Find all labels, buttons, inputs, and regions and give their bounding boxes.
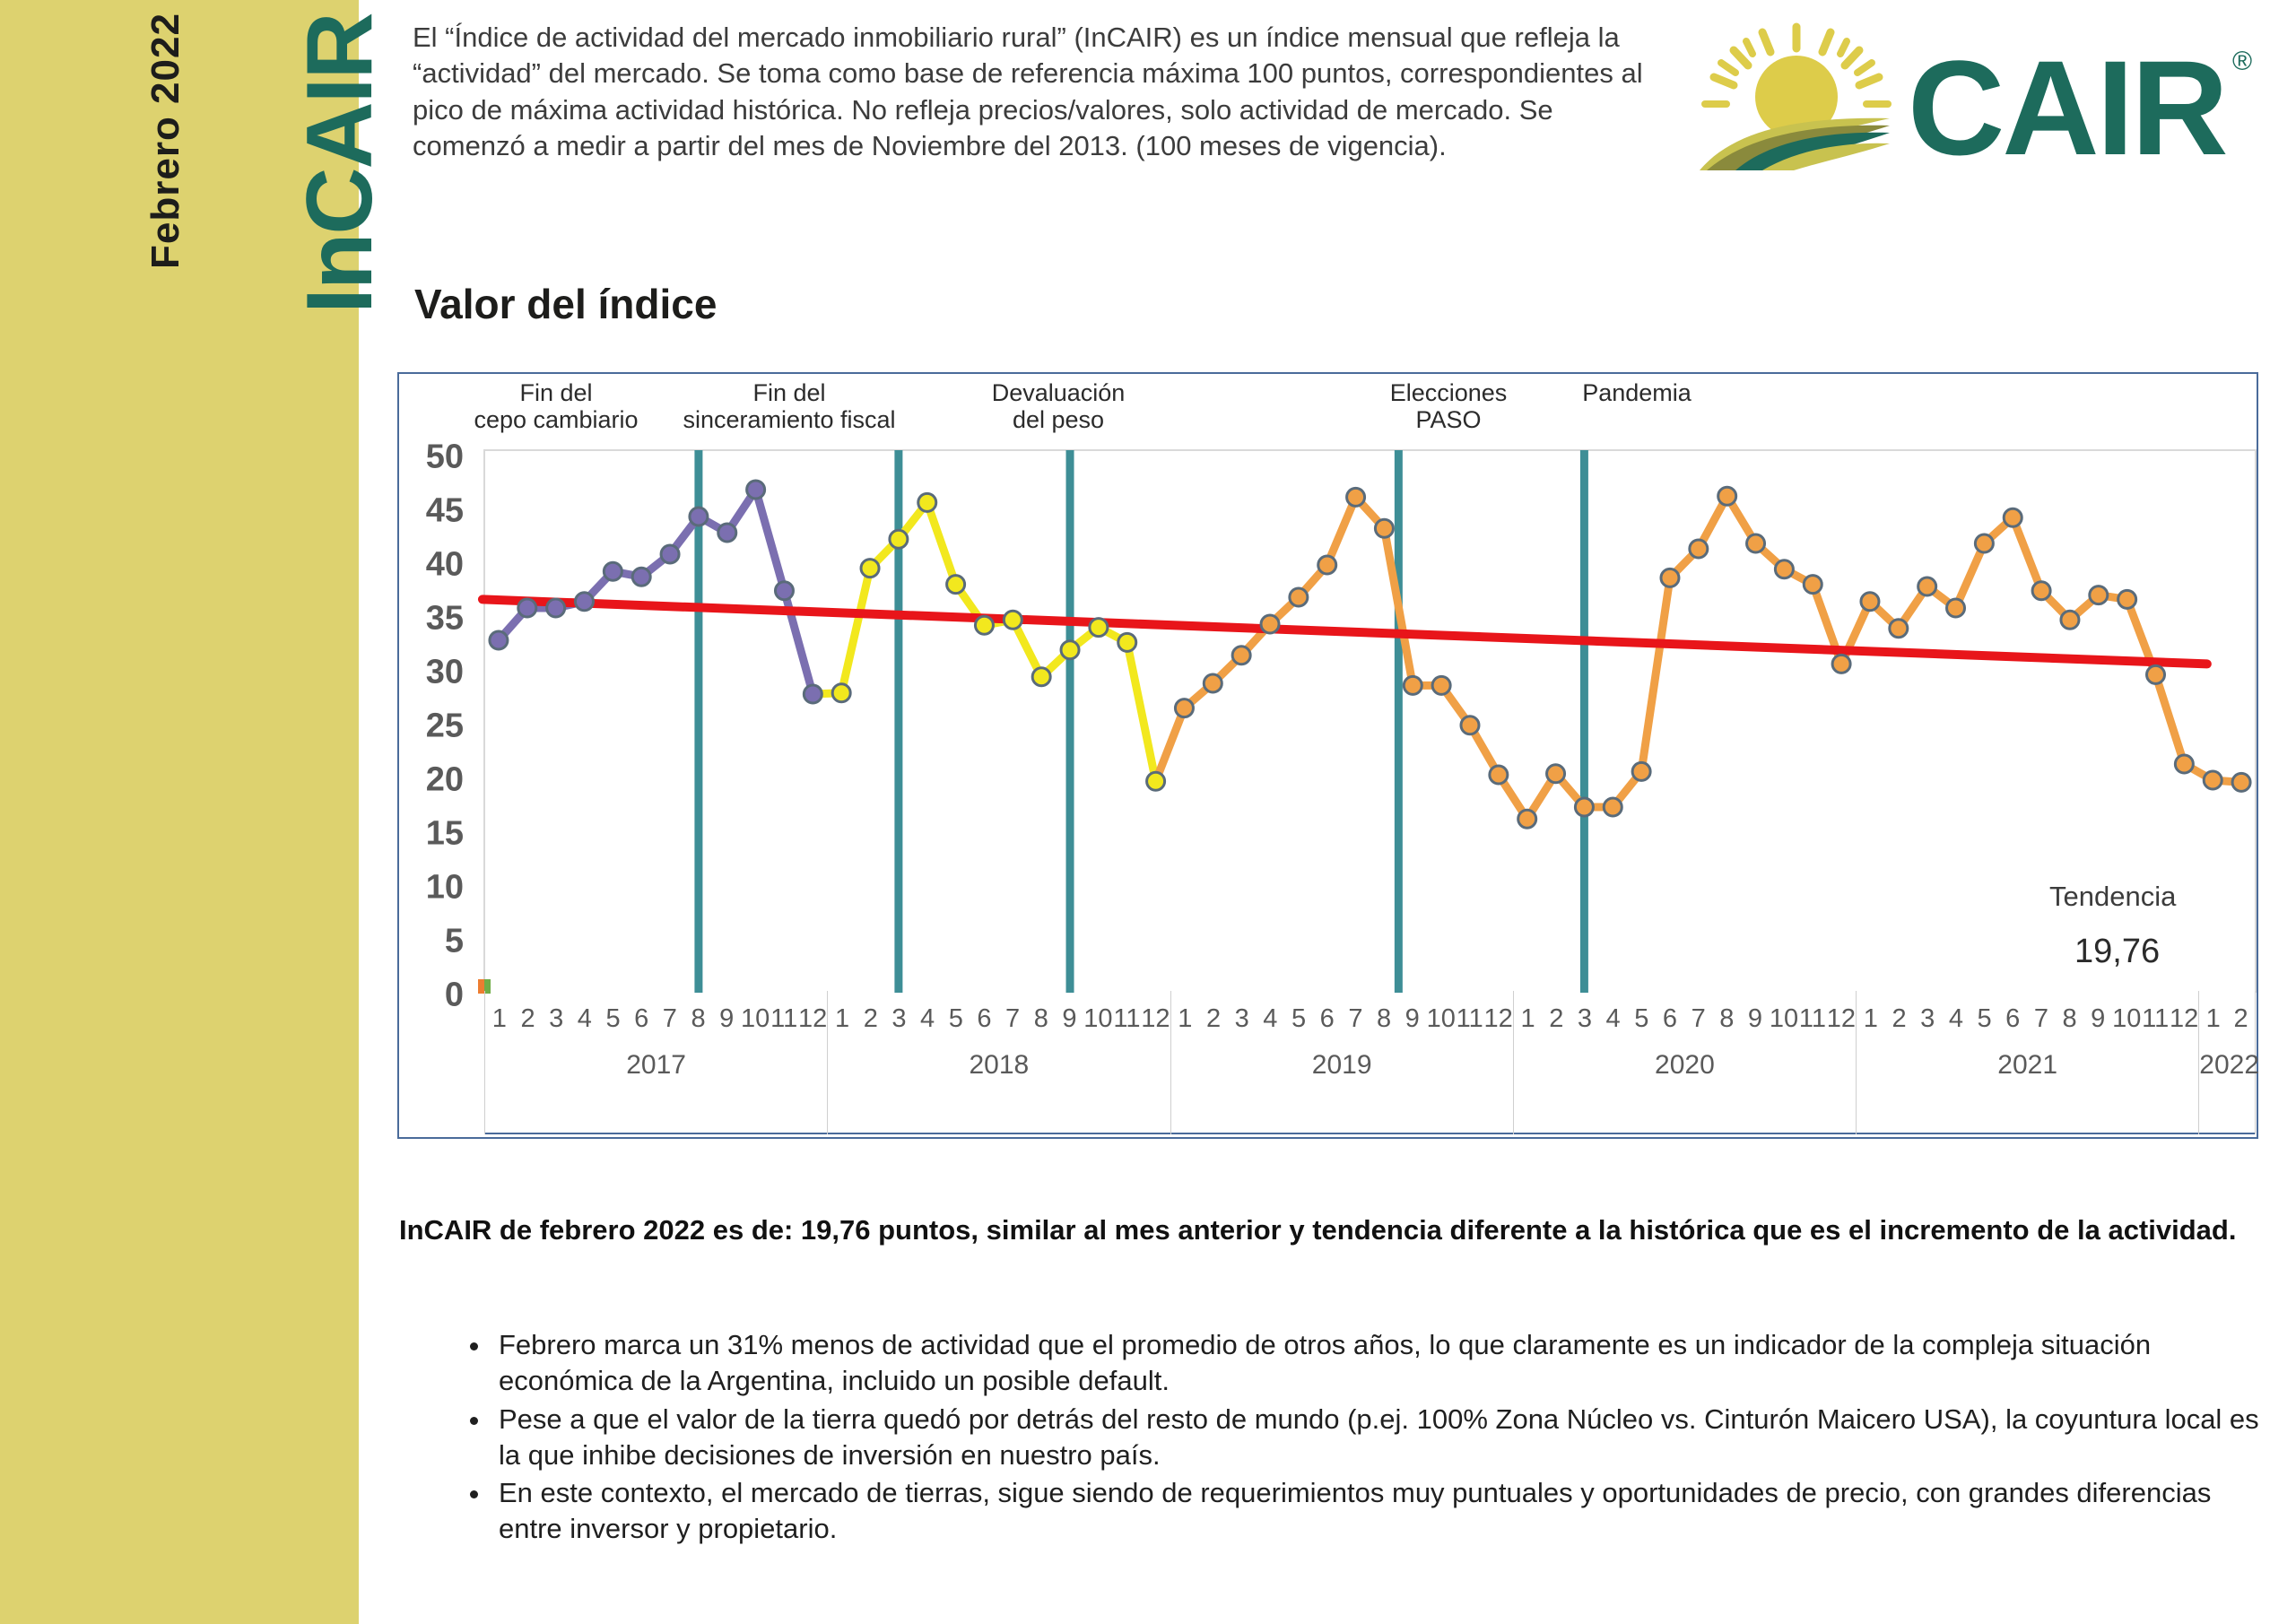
data-point	[604, 562, 622, 580]
x-axis-month-row: 123456789101112	[485, 991, 827, 1046]
x-axis-month-tick: 4	[913, 991, 942, 1046]
data-point	[1947, 599, 1965, 617]
data-point	[690, 508, 708, 525]
x-axis-month-tick: 12	[2170, 991, 2198, 1046]
x-axis-year-label: 2021	[1857, 1050, 2198, 1081]
x-axis-month-tick: 10	[1427, 991, 1456, 1046]
x-axis-month-tick: 2	[1885, 991, 1914, 1046]
x-axis-month-tick: 3	[885, 991, 914, 1046]
x-axis-month-tick: 11	[1113, 991, 1142, 1046]
x-axis-year-group: 1234567891011122019	[1170, 991, 1513, 1134]
data-point	[1261, 615, 1279, 633]
x-axis-month-row: 12	[2199, 991, 2255, 1046]
x-axis-year-group: 122022	[2198, 991, 2256, 1134]
x-axis-month-tick: 6	[970, 991, 999, 1046]
data-point	[1347, 488, 1365, 506]
x-axis-month-tick: 3	[1570, 991, 1599, 1046]
series-line	[841, 502, 1155, 781]
data-point	[1032, 668, 1050, 686]
data-point	[1575, 798, 1593, 816]
x-axis-month-tick: 5	[942, 991, 970, 1046]
x-axis-month-tick: 4	[1257, 991, 1285, 1046]
x-axis-month-tick: 5	[1284, 991, 1313, 1046]
data-point	[718, 524, 736, 542]
data-point	[1975, 534, 1993, 552]
data-point	[1547, 765, 1565, 783]
x-axis-month-tick: 8	[684, 991, 713, 1046]
data-point	[2004, 508, 2022, 526]
x-axis-month-tick: 11	[2141, 991, 2170, 1046]
data-point	[1890, 620, 1908, 638]
x-axis-month-tick: 3	[542, 991, 570, 1046]
x-axis-month-tick: 1	[485, 991, 514, 1046]
x-axis-year-group: 1234567891011122021	[1856, 991, 2198, 1134]
sidebar: Febrero 2022 InCAIR	[0, 0, 359, 1624]
bullet-list: Febrero marca un 31% menos de actividad …	[448, 1327, 2278, 1550]
data-point	[1518, 810, 1536, 828]
field-icon	[1700, 118, 1890, 170]
x-axis-month-tick: 7	[2027, 991, 2056, 1046]
data-point	[1690, 540, 1708, 558]
x-axis-month-tick: 4	[570, 991, 599, 1046]
x-axis-month-row: 123456789101112	[1857, 991, 2198, 1046]
data-point	[1404, 676, 1422, 694]
x-axis-year-label: 2019	[1171, 1050, 1513, 1081]
x-axis-year-group: 1234567891011122020	[1513, 991, 1856, 1134]
x-axis-month-tick: 10	[1083, 991, 1112, 1046]
x-axis-month-tick: 6	[1313, 991, 1342, 1046]
data-point	[1804, 576, 1822, 594]
chart-annotation-band: Fin del cepo cambiario Fin del sincerami…	[399, 374, 2257, 441]
x-axis-month-tick: 5	[599, 991, 628, 1046]
x-axis-month-tick: 5	[1627, 991, 1656, 1046]
x-axis-month-tick: 4	[1942, 991, 1970, 1046]
x-axis-month-tick: 6	[627, 991, 656, 1046]
cair-logo-svg: CAIR ®	[1700, 18, 2274, 170]
x-axis-year-label: 2022	[2199, 1050, 2255, 1081]
data-point	[947, 576, 965, 594]
data-point	[2118, 590, 2136, 608]
x-axis-month-tick: 2	[2227, 991, 2255, 1046]
x-axis-year-group: 1234567891011122017	[484, 991, 827, 1134]
x-axis-month-tick: 9	[1056, 991, 1084, 1046]
x-axis-month-tick: 4	[1599, 991, 1628, 1046]
data-point	[2061, 611, 2079, 629]
series-line	[499, 490, 813, 694]
x-axis-month-tick: 10	[741, 991, 770, 1046]
data-point	[1718, 487, 1736, 505]
x-axis-month-tick: 7	[1684, 991, 1713, 1046]
summary-paragraph: InCAIR de febrero 2022 es de: 19,76 punt…	[399, 1212, 2278, 1248]
data-point	[1490, 766, 1508, 784]
data-point	[1232, 647, 1250, 664]
x-axis-month-tick: 9	[1741, 991, 1770, 1046]
x-axis-month-tick: 3	[1228, 991, 1257, 1046]
x-axis-year-label: 2017	[485, 1050, 827, 1081]
x-axis-month-tick: 1	[828, 991, 857, 1046]
data-point	[1204, 674, 1222, 692]
chart-container: Fin del cepo cambiario Fin del sincerami…	[397, 372, 2258, 1139]
x-axis-month-tick: 3	[1913, 991, 1942, 1046]
data-point	[547, 599, 565, 617]
data-point	[1747, 534, 1765, 552]
x-axis-month-tick: 2	[514, 991, 543, 1046]
x-axis-month-tick: 8	[2056, 991, 2084, 1046]
data-point	[2232, 773, 2250, 791]
annotation-label-pandemia: Pandemia	[1520, 379, 1753, 406]
x-axis-month-tick: 1	[1171, 991, 1200, 1046]
series-connector	[1156, 708, 1185, 782]
x-axis-month-tick: 1	[2199, 991, 2227, 1046]
x-axis-month-tick: 1	[1514, 991, 1543, 1046]
data-point	[975, 616, 993, 634]
x-axis-month-tick: 9	[712, 991, 741, 1046]
chart-section-title: Valor del índice	[414, 280, 717, 328]
x-axis-month-row: 123456789101112	[1171, 991, 1513, 1046]
x-axis-month-tick: 12	[1827, 991, 1856, 1046]
cair-logo: CAIR ®	[1700, 18, 2274, 170]
x-axis-month-tick: 7	[656, 991, 684, 1046]
data-point	[1632, 762, 1650, 780]
cair-wordmark: CAIR	[1908, 32, 2226, 170]
x-axis-month-tick: 8	[1027, 991, 1056, 1046]
list-item: En este contexto, el mercado de tierras,…	[491, 1475, 2278, 1548]
chart-svg	[399, 441, 2257, 993]
x-axis-month-tick: 10	[2112, 991, 2141, 1046]
data-point	[1604, 798, 1622, 816]
x-axis-month-tick: 5	[1970, 991, 1999, 1046]
x-axis-month-tick: 10	[1770, 991, 1798, 1046]
data-point	[2147, 665, 2165, 683]
data-point	[661, 545, 679, 563]
x-axis-month-tick: 11	[1798, 991, 1827, 1046]
plot-frame	[484, 450, 2256, 993]
data-point	[1090, 619, 1108, 637]
x-axis-year-label: 2018	[828, 1050, 1170, 1081]
data-point	[2175, 755, 2193, 773]
data-point	[918, 493, 936, 511]
data-point	[1061, 641, 1079, 659]
x-axis-month-tick: 6	[1998, 991, 2027, 1046]
annotation-label-cepo: Fin del cepo cambiario	[426, 379, 686, 433]
x-axis-month-tick: 12	[1141, 991, 1170, 1046]
annotation-label-sinceramiento: Fin del sinceramiento fiscal	[655, 379, 924, 433]
data-point	[747, 481, 765, 499]
data-point	[1775, 560, 1793, 578]
data-point	[1461, 716, 1479, 734]
x-axis-month-tick: 9	[2083, 991, 2112, 1046]
data-point	[861, 560, 879, 578]
tendencia-callout-value: 19,76	[2074, 933, 2160, 971]
data-point	[804, 685, 822, 703]
data-point	[1375, 519, 1393, 537]
data-point	[1432, 676, 1450, 694]
data-point	[1290, 588, 1308, 606]
sidebar-inner: Febrero 2022 InCAIR	[0, 0, 359, 1624]
data-point	[1118, 633, 1136, 651]
data-point	[2090, 586, 2108, 604]
list-item: Pese a que el valor de la tierra quedó p…	[491, 1402, 2278, 1474]
tendencia-callout-label: Tendencia	[2049, 881, 2176, 913]
data-point	[1861, 593, 1879, 611]
data-point	[2032, 582, 2050, 600]
x-axis-month-tick: 2	[1542, 991, 1570, 1046]
data-point	[832, 684, 850, 702]
registered-mark: ®	[2232, 47, 2252, 76]
x-axis-year-group: 1234567891011122018	[827, 991, 1170, 1134]
x-axis-month-row: 123456789101112	[828, 991, 1170, 1046]
data-point	[1918, 578, 1936, 595]
x-axis-month-tick: 7	[998, 991, 1027, 1046]
x-axis-month-tick: 1	[1857, 991, 1885, 1046]
data-point	[490, 631, 508, 649]
x-axis-month-tick: 7	[1342, 991, 1370, 1046]
x-axis: 1234567891011122017123456789101112201812…	[484, 991, 2256, 1134]
sidebar-brand-label: InCAIR	[287, 13, 394, 314]
data-point	[1832, 655, 1850, 673]
x-axis-month-tick: 12	[1484, 991, 1513, 1046]
data-point	[1661, 569, 1679, 586]
chart-plot-area: Tendencia 19,76	[399, 441, 2257, 993]
intro-paragraph: El “Índice de actividad del mercado inmo…	[413, 20, 1668, 164]
data-point	[890, 530, 908, 548]
x-axis-month-tick: 9	[1398, 991, 1427, 1046]
data-point	[775, 582, 793, 600]
list-item: Febrero marca un 31% menos de actividad …	[491, 1327, 2278, 1400]
data-point	[1004, 611, 1022, 629]
data-point	[575, 593, 593, 611]
x-axis-month-tick: 2	[857, 991, 885, 1046]
x-axis-month-tick: 12	[798, 991, 827, 1046]
x-axis-month-tick: 6	[1656, 991, 1684, 1046]
x-axis-month-tick: 11	[770, 991, 798, 1046]
x-axis-month-tick: 2	[1199, 991, 1228, 1046]
data-point	[1318, 556, 1336, 574]
bullet-list-ul: Febrero marca un 31% menos de actividad …	[448, 1327, 2278, 1548]
x-axis-month-tick: 8	[1712, 991, 1741, 1046]
data-point	[632, 568, 650, 586]
data-point	[1175, 699, 1193, 717]
x-axis-month-tick: 8	[1370, 991, 1398, 1046]
x-axis-month-row: 123456789101112	[1514, 991, 1856, 1046]
x-axis-month-tick: 11	[1456, 991, 1484, 1046]
annotation-label-devaluacion: Devaluación del peso	[928, 379, 1188, 433]
data-point	[1147, 772, 1165, 790]
data-point	[2204, 771, 2222, 789]
x-axis-year-label: 2020	[1514, 1050, 1856, 1081]
sidebar-date-label: Febrero 2022	[143, 13, 188, 269]
data-point	[518, 599, 536, 617]
